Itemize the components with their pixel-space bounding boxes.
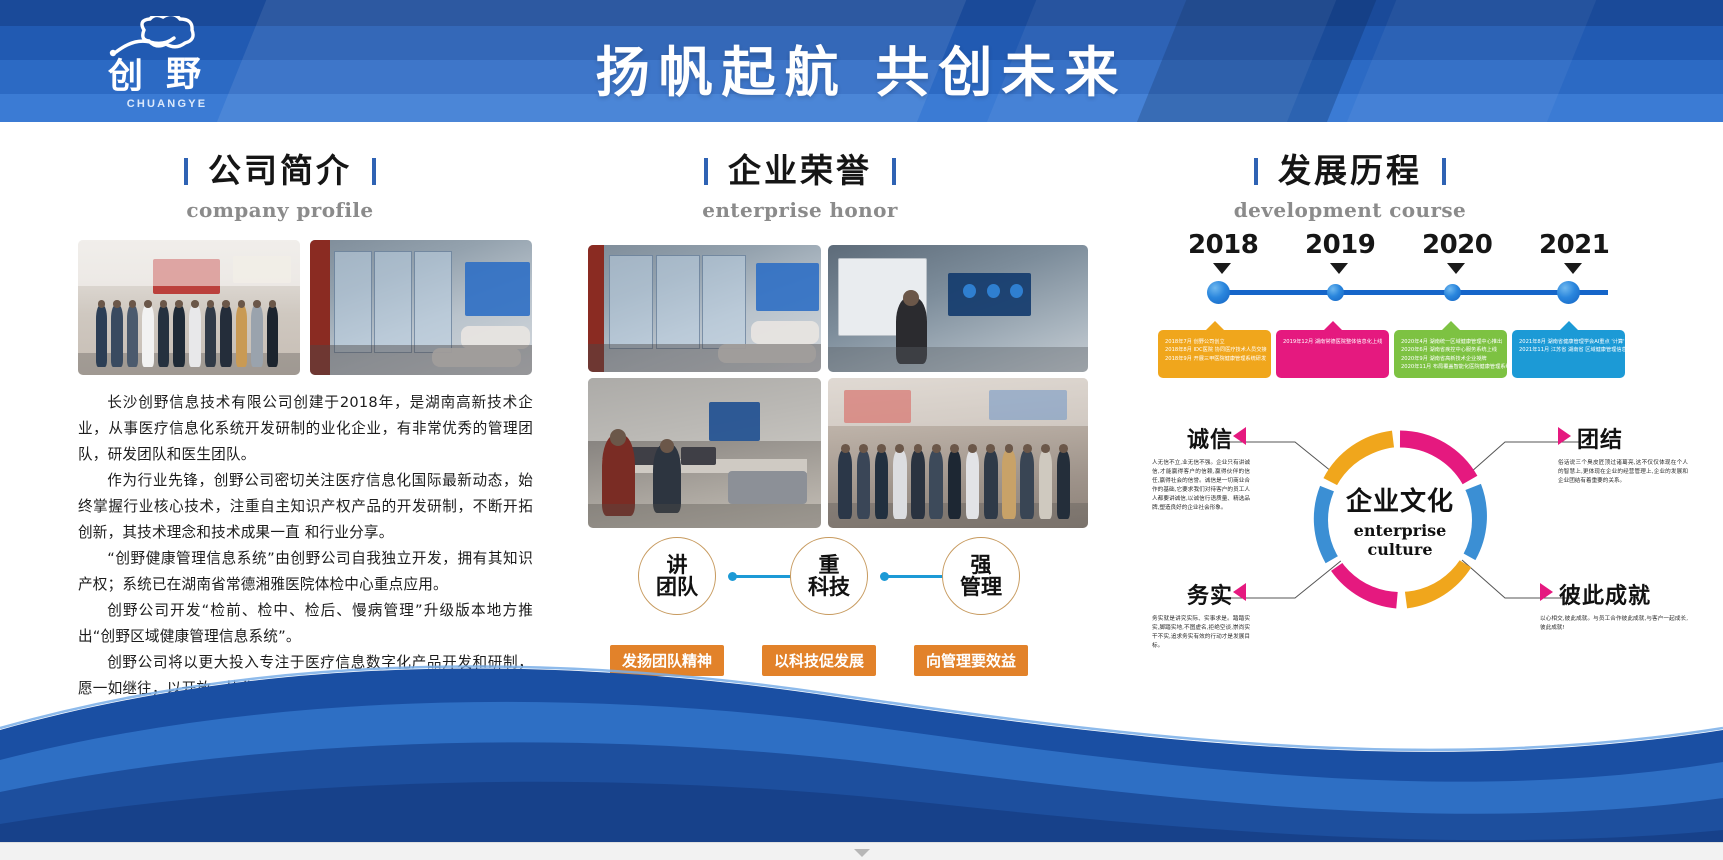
culture-diagram: 企业文化 enterprise culture 诚信 人无信不立,业无信不强。企… (1110, 402, 1690, 632)
title-bar-left-icon (184, 158, 188, 185)
title-bar-left-icon (704, 158, 708, 185)
section-title-course-en: development course (1120, 198, 1580, 222)
timeline-item: 2018年9月 开展三甲医院健康管理系统研发 (1165, 355, 1264, 363)
timeline-node-2019[interactable] (1327, 284, 1344, 301)
timeline-item: 2020年4月 湖南统一区域健康管理中心推出 (1401, 338, 1500, 346)
page-header: 创 野 CHUANGYE 扬帆起航 共创未来 (0, 0, 1723, 122)
process-circle-1-line1: 讲 (667, 553, 688, 577)
culture-center-cn: 企业文化 (1346, 481, 1454, 518)
window-scrollbar[interactable] (0, 842, 1723, 860)
process-circle-3[interactable]: 强管理 (942, 537, 1020, 615)
timeline-axis (1216, 290, 1608, 295)
arrow-right-icon (1540, 583, 1553, 601)
culture-body-chengxin: 人无信不立,业无信不强。企业只有讲诚信,才能赢得客户的信赖,赢得伙伴的信任,赢得… (1110, 459, 1250, 513)
timeline-item: 2020年6月 湖南省疾控中心服务系统上线 (1401, 346, 1500, 354)
photo-honor-team (828, 378, 1088, 528)
culture-item-tuanjie[interactable]: 团结 俗话说三个臭皮匠顶过诸葛亮,这不仅仅体现在个人的智慧上,更体现在企业的经营… (1558, 422, 1698, 486)
culture-body-tuanjie: 俗话说三个臭皮匠顶过诸葛亮,这不仅仅体现在个人的智慧上,更体现在企业的经营管理上… (1558, 459, 1698, 486)
photo-honor-presentation (828, 245, 1088, 372)
section-title-honor-cn: 企业荣誉 (570, 144, 1030, 192)
section-heading-course: 发展历程 development course (1120, 144, 1580, 222)
timeline-caret-2019 (1330, 263, 1348, 274)
timeline-item: 2018年8月 IDC医院 协同医疗技术人员交接 (1165, 346, 1264, 354)
section-title-profile-cn: 公司简介 (60, 144, 500, 192)
scroll-down-icon[interactable] (854, 849, 870, 857)
timeline-item: 2021年11月 江苏省 湖南省 区域健康管理信息化推动典范城 (1519, 346, 1618, 354)
timeline-node-2021[interactable] (1557, 281, 1580, 304)
title-bar-right-icon (1442, 158, 1446, 185)
timeline-node-2020[interactable] (1444, 284, 1461, 301)
culture-center-en2: culture (1367, 540, 1432, 559)
timeline-year-2021: 2021 (1539, 230, 1609, 260)
process-circle-1[interactable]: 讲团队 (638, 537, 716, 615)
timeline-item: 2018年7月 创野公司创立 (1165, 338, 1264, 346)
poster-canvas: 创 野 CHUANGYE 扬帆起航 共创未来 公司简介 company prof… (0, 0, 1723, 860)
timeline-item: 2020年9月 湖南省高新技术企业授牌 (1401, 355, 1500, 363)
page-title: 扬帆起航 共创未来 (0, 28, 1723, 107)
culture-title-tuanjie: 团结 (1558, 422, 1698, 454)
process-dot-1a (728, 572, 737, 581)
timeline-caret-2021 (1564, 263, 1582, 274)
timeline-item: 2021年8月 湖南省健康管理学会AI重点 '计算' (1519, 338, 1618, 346)
timeline-box-nub (1559, 321, 1579, 331)
timeline-item: 2020年11月 布局覆盖智能化医院健康管理系统 (1401, 363, 1500, 371)
timeline-caret-2018 (1213, 263, 1231, 274)
timeline-box-nub (1441, 321, 1461, 331)
culture-title-wushi: 务实 (1110, 578, 1250, 610)
timeline-box-2021[interactable]: 2021年8月 湖南省健康管理学会AI重点 '计算' 2021年11月 江苏省 … (1512, 330, 1625, 378)
timeline-box-2019[interactable]: 2019年12月 湖南常德医院整体信息化上线 (1276, 330, 1389, 378)
timeline-item: 2019年12月 湖南常德医院整体信息化上线 (1283, 338, 1382, 346)
title-bar-right-icon (372, 158, 376, 185)
title-bar-left-icon (1254, 158, 1258, 185)
culture-center-en1: enterprise (1354, 521, 1447, 540)
timeline-box-2020[interactable]: 2020年4月 湖南统一区域健康管理中心推出 2020年6月 湖南省疾控中心服务… (1394, 330, 1507, 378)
process-circle-2[interactable]: 重科技 (790, 537, 868, 615)
timeline-caret-2020 (1447, 263, 1465, 274)
culture-title-bicichengjiu: 彼此成就 (1540, 578, 1698, 610)
poster-body: 公司简介 company profile 企业荣誉 enterprise hon… (0, 122, 1723, 860)
process-circle-3-line1: 强 (971, 553, 992, 577)
timeline-box-nub (1205, 321, 1225, 331)
process-circle-1-line2: 团队 (656, 575, 698, 599)
culture-item-chengxin[interactable]: 诚信 人无信不立,业无信不强。企业只有讲诚信,才能赢得客户的信赖,赢得伙伴的信任… (1110, 422, 1250, 513)
section-heading-profile: 公司简介 company profile (60, 144, 500, 222)
timeline-year-2018: 2018 (1188, 230, 1258, 260)
profile-paragraph-2: 作为行业先锋，创野公司密切关注医疗信息化国际最新动态，始终掌握行业核心技术，注重… (78, 468, 533, 546)
arrow-left-icon (1233, 427, 1246, 445)
photo-honor-workspace (588, 378, 821, 528)
process-circle-2-line2: 科技 (808, 575, 850, 599)
section-title-honor-en: enterprise honor (570, 198, 1030, 222)
arrow-right-icon (1558, 427, 1571, 445)
timeline-box-nub (1323, 321, 1343, 331)
section-heading-honor: 企业荣誉 enterprise honor (570, 144, 1030, 222)
photo-lobby-group (78, 240, 300, 375)
photo-office-reception (310, 240, 532, 375)
development-timeline: 2018 2019 2020 2021 2018年7月 创野公司创立 2018年… (1150, 230, 1690, 400)
culture-center: 企业文化 enterprise culture (1328, 448, 1472, 592)
timeline-year-2019: 2019 (1305, 230, 1375, 260)
timeline-node-2018[interactable] (1207, 281, 1230, 304)
process-circle-3-line2: 管理 (960, 575, 1002, 599)
section-title-course-cn: 发展历程 (1120, 144, 1580, 192)
process-dot-2a (880, 572, 889, 581)
profile-paragraph-1: 长沙创野信息技术有限公司创建于2018年，是湖南高新技术企业，从事医疗信息化系统… (78, 390, 533, 468)
process-circle-2-line1: 重 (819, 553, 840, 577)
culture-title-chengxin: 诚信 (1110, 422, 1250, 454)
title-bar-right-icon (892, 158, 896, 185)
section-title-profile-en: company profile (60, 198, 500, 222)
timeline-year-2020: 2020 (1422, 230, 1492, 260)
photo-honor-office (588, 245, 821, 372)
profile-paragraph-3: “创野健康管理信息系统”由创野公司自我独立开发，拥有其知识产权；系统已在湖南省常… (78, 546, 533, 598)
bottom-wave-decoration (0, 610, 1723, 860)
timeline-box-2018[interactable]: 2018年7月 创野公司创立 2018年8月 IDC医院 协同医疗技术人员交接 … (1158, 330, 1271, 378)
arrow-left-icon (1233, 583, 1246, 601)
